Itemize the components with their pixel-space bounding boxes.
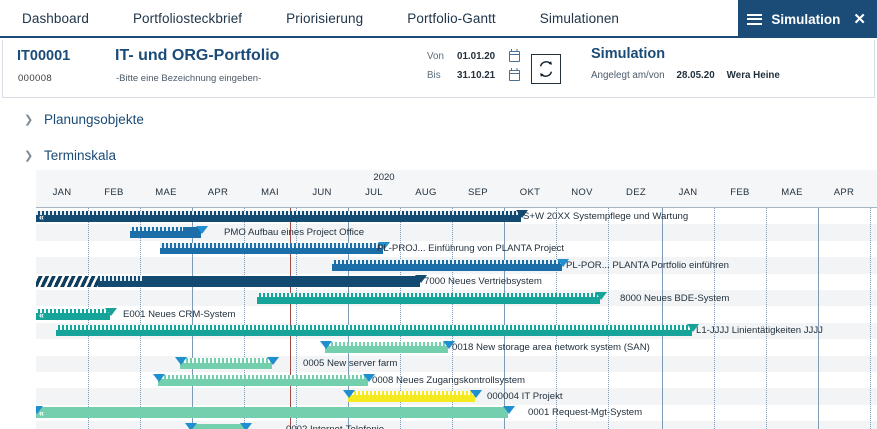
gantt-bar-progress bbox=[257, 293, 600, 298]
gantt-month-label: AUG bbox=[415, 187, 437, 198]
gantt-bar[interactable] bbox=[130, 227, 201, 238]
refresh-sync-button[interactable] bbox=[531, 54, 561, 84]
calendar-icon[interactable] bbox=[509, 51, 520, 62]
gantt-bar-label: 0018 New storage area network system (SA… bbox=[452, 342, 650, 353]
tab-portfolio-gantt[interactable]: Portfolio-Gantt bbox=[385, 0, 518, 36]
gantt-month-label: JUL bbox=[365, 187, 383, 198]
tab-priorisierung[interactable]: Priorisierung bbox=[264, 0, 385, 36]
gantt-bar-label: 0005 New server farm bbox=[303, 358, 397, 369]
gantt-bar-progress bbox=[348, 391, 475, 396]
main-tabbar: Dashboard Portfoliosteckbrief Priorisier… bbox=[0, 0, 877, 38]
gantt-year-label: 2020 bbox=[373, 172, 394, 183]
gantt-bar[interactable] bbox=[36, 309, 110, 320]
gantt-bar[interactable] bbox=[348, 391, 475, 402]
gantt-month-label: MAI bbox=[261, 187, 279, 198]
gantt-bar-label: E001 Neues CRM-System bbox=[123, 309, 236, 320]
von-label: Von bbox=[427, 51, 457, 62]
bis-label: Bis bbox=[427, 70, 457, 81]
gantt-bar-progress bbox=[332, 260, 562, 265]
close-icon[interactable]: ✕ bbox=[853, 12, 866, 27]
gantt-milestone-marker[interactable] bbox=[470, 390, 482, 398]
gantt-bar-label: PL-PROJ... Einführung von PLANTA Project bbox=[377, 243, 564, 254]
gantt-bar-label: 0001 Request-Mgt-System bbox=[528, 407, 642, 418]
gantt-bar-label: 0008 Neues Zugangskontrollsystem bbox=[372, 375, 525, 386]
gantt-month-label: MAE bbox=[781, 187, 803, 198]
gantt-milestone-marker[interactable] bbox=[240, 423, 252, 429]
calendar-icon[interactable] bbox=[509, 70, 520, 81]
gantt-bar-label: 8000 Neues BDE-System bbox=[620, 293, 729, 304]
gantt-overflow-left-icon[interactable]: « bbox=[39, 310, 43, 321]
simulation-portfolio-window: Dashboard Portfoliosteckbrief Priorisier… bbox=[0, 0, 877, 429]
gantt-milestone-marker-start[interactable] bbox=[175, 357, 187, 365]
von-value[interactable]: 01.01.20 bbox=[457, 51, 509, 62]
portfolio-title: IT- und ORG-Portfolio bbox=[115, 47, 279, 65]
gantt-row[interactable] bbox=[36, 421, 877, 429]
gantt-gridline bbox=[662, 208, 663, 429]
gantt-milestone-marker[interactable] bbox=[105, 308, 117, 316]
gantt-bar[interactable] bbox=[160, 243, 383, 254]
gantt-month-label: FEB bbox=[104, 187, 123, 198]
gantt-milestone-marker[interactable] bbox=[595, 292, 607, 300]
date-range-group: Von 01.01.20 Bis 31.10.21 bbox=[427, 47, 520, 85]
gantt-bar-label: PMO Aufbau eines Project Office bbox=[224, 227, 364, 238]
portfolio-header-panel: IT00001 000008 IT- und ORG-Portfolio -Bi… bbox=[2, 40, 875, 98]
gantt-gridline bbox=[766, 208, 767, 429]
created-date: 28.05.20 bbox=[677, 70, 715, 81]
gantt-bar-label: 0002 Internet-Telefonie bbox=[286, 424, 384, 429]
gantt-bar-label: L1-JJJJ Linientätigkeiten JJJJ bbox=[696, 325, 823, 336]
created-by-user: Wera Heine bbox=[727, 70, 780, 81]
gantt-bar-progress bbox=[36, 211, 521, 216]
tab-portfoliosteckbrief[interactable]: Portfoliosteckbrief bbox=[111, 0, 264, 36]
section-terminskala-label: Terminskala bbox=[44, 148, 116, 163]
gantt-timescale-header: 2020JANFEBMAEAPRMAIJUNJULAUGSEPOKTNOVDEZ… bbox=[36, 170, 877, 208]
gantt-gridline bbox=[870, 208, 871, 429]
gantt-milestone-marker[interactable] bbox=[503, 406, 515, 414]
gantt-bar-progress bbox=[130, 227, 183, 232]
gantt-row[interactable] bbox=[36, 356, 877, 372]
gantt-month-label: JAN bbox=[679, 187, 698, 198]
gantt-today-line bbox=[290, 208, 291, 429]
gantt-bar[interactable] bbox=[332, 260, 562, 271]
tab-simulationen[interactable]: Simulationen bbox=[518, 0, 641, 36]
simulation-title: Simulation bbox=[591, 46, 780, 62]
chevron-down-icon[interactable]: ❯ bbox=[24, 149, 32, 162]
gantt-milestone-marker-start[interactable] bbox=[153, 374, 165, 382]
gantt-bar-progress bbox=[56, 325, 692, 330]
tab-simulation-active[interactable]: Simulation ✕ bbox=[738, 0, 877, 38]
gantt-bar-label: S+W 20XX Systempflege und Wartung bbox=[523, 211, 688, 222]
gantt-bar-label: PL-POR... PLANTA Portfolio einführen bbox=[566, 260, 729, 271]
gantt-milestone-marker[interactable] bbox=[196, 226, 208, 234]
portfolio-number: 000008 bbox=[18, 73, 52, 84]
gantt-month-label: JUN bbox=[312, 187, 331, 198]
simulation-meta: Angelegt am/von 28.05.20 Wera Heine bbox=[591, 70, 780, 81]
portfolio-id: IT00001 bbox=[17, 48, 70, 64]
gantt-milestone-marker-start[interactable] bbox=[320, 341, 332, 349]
tab-simulation-label: Simulation bbox=[771, 12, 840, 27]
gantt-bar-progress bbox=[180, 358, 272, 363]
gantt-overflow-left-icon[interactable]: « bbox=[39, 212, 43, 223]
refresh-sync-icon bbox=[537, 60, 555, 78]
gantt-gridline bbox=[818, 208, 819, 429]
gantt-milestone-marker-start[interactable] bbox=[36, 406, 43, 414]
gantt-month-label: FEB bbox=[730, 187, 749, 198]
gantt-bar-progress bbox=[36, 309, 110, 314]
gantt-bar-progress bbox=[158, 375, 368, 380]
gantt-gridline bbox=[296, 208, 297, 429]
gantt-chart[interactable]: 2020JANFEBMAEAPRMAIJUNJULAUGSEPOKTNOVDEZ… bbox=[36, 170, 877, 429]
gantt-bar-label: 7000 Neues Vertriebsystem bbox=[424, 276, 542, 287]
gantt-bar[interactable] bbox=[325, 342, 448, 353]
gantt-bar[interactable] bbox=[257, 293, 600, 304]
gantt-month-label: OKT bbox=[520, 187, 540, 198]
gantt-month-label: SEP bbox=[468, 187, 488, 198]
section-terminskala[interactable]: ❯ Terminskala bbox=[2, 140, 875, 170]
hamburger-icon[interactable] bbox=[747, 14, 762, 25]
gantt-milestone-marker-start[interactable] bbox=[185, 423, 197, 429]
bis-value[interactable]: 31.10.21 bbox=[457, 70, 509, 81]
gantt-bar[interactable] bbox=[190, 424, 245, 429]
gantt-bar[interactable] bbox=[158, 375, 368, 386]
gantt-month-label: APR bbox=[208, 187, 228, 198]
gantt-month-label: MAE bbox=[155, 187, 177, 198]
gantt-gridline bbox=[244, 208, 245, 429]
gantt-gridline bbox=[714, 208, 715, 429]
gantt-bar[interactable] bbox=[56, 325, 692, 336]
section-planungsobjekte-label: Planungsobjekte bbox=[44, 112, 144, 127]
gantt-bar[interactable] bbox=[36, 407, 508, 418]
gantt-month-label: JAN bbox=[53, 187, 72, 198]
gantt-bar-label: 000004 IT Projekt bbox=[487, 391, 563, 402]
gantt-milestone-marker[interactable] bbox=[267, 357, 279, 365]
tabbar-spacer bbox=[641, 0, 738, 36]
gantt-milestone-marker-start[interactable] bbox=[343, 390, 355, 398]
gantt-bar-fill bbox=[36, 407, 508, 418]
date-row-von: Von 01.01.20 bbox=[427, 47, 520, 66]
gantt-bar[interactable] bbox=[36, 211, 521, 222]
gantt-gridline bbox=[608, 208, 609, 429]
gantt-month-label: APR bbox=[834, 187, 854, 198]
created-label: Angelegt am/von bbox=[591, 70, 665, 81]
date-row-bis: Bis 31.10.21 bbox=[427, 66, 520, 85]
chevron-right-icon[interactable]: ❯ bbox=[24, 113, 32, 126]
gantt-bar-hatched-segment bbox=[36, 276, 98, 287]
gantt-bar[interactable] bbox=[180, 358, 272, 369]
portfolio-description-placeholder[interactable]: -Bitte eine Bezeichnung eingeben- bbox=[116, 73, 261, 84]
gantt-bar-progress bbox=[160, 243, 383, 248]
gantt-bar-progress bbox=[325, 342, 448, 347]
gantt-month-label: NOV bbox=[571, 187, 593, 198]
section-planungsobjekte[interactable]: ❯ Planungsobjekte bbox=[2, 104, 875, 134]
gantt-month-label: DEZ bbox=[626, 187, 646, 198]
gantt-bar-fill bbox=[190, 424, 245, 429]
tab-dashboard[interactable]: Dashboard bbox=[0, 0, 111, 36]
gantt-bars-area[interactable]: «S+W 20XX Systempflege und WartungPMO Au… bbox=[36, 208, 877, 429]
simulation-info-block: Simulation Angelegt am/von 28.05.20 Wera… bbox=[591, 46, 780, 81]
